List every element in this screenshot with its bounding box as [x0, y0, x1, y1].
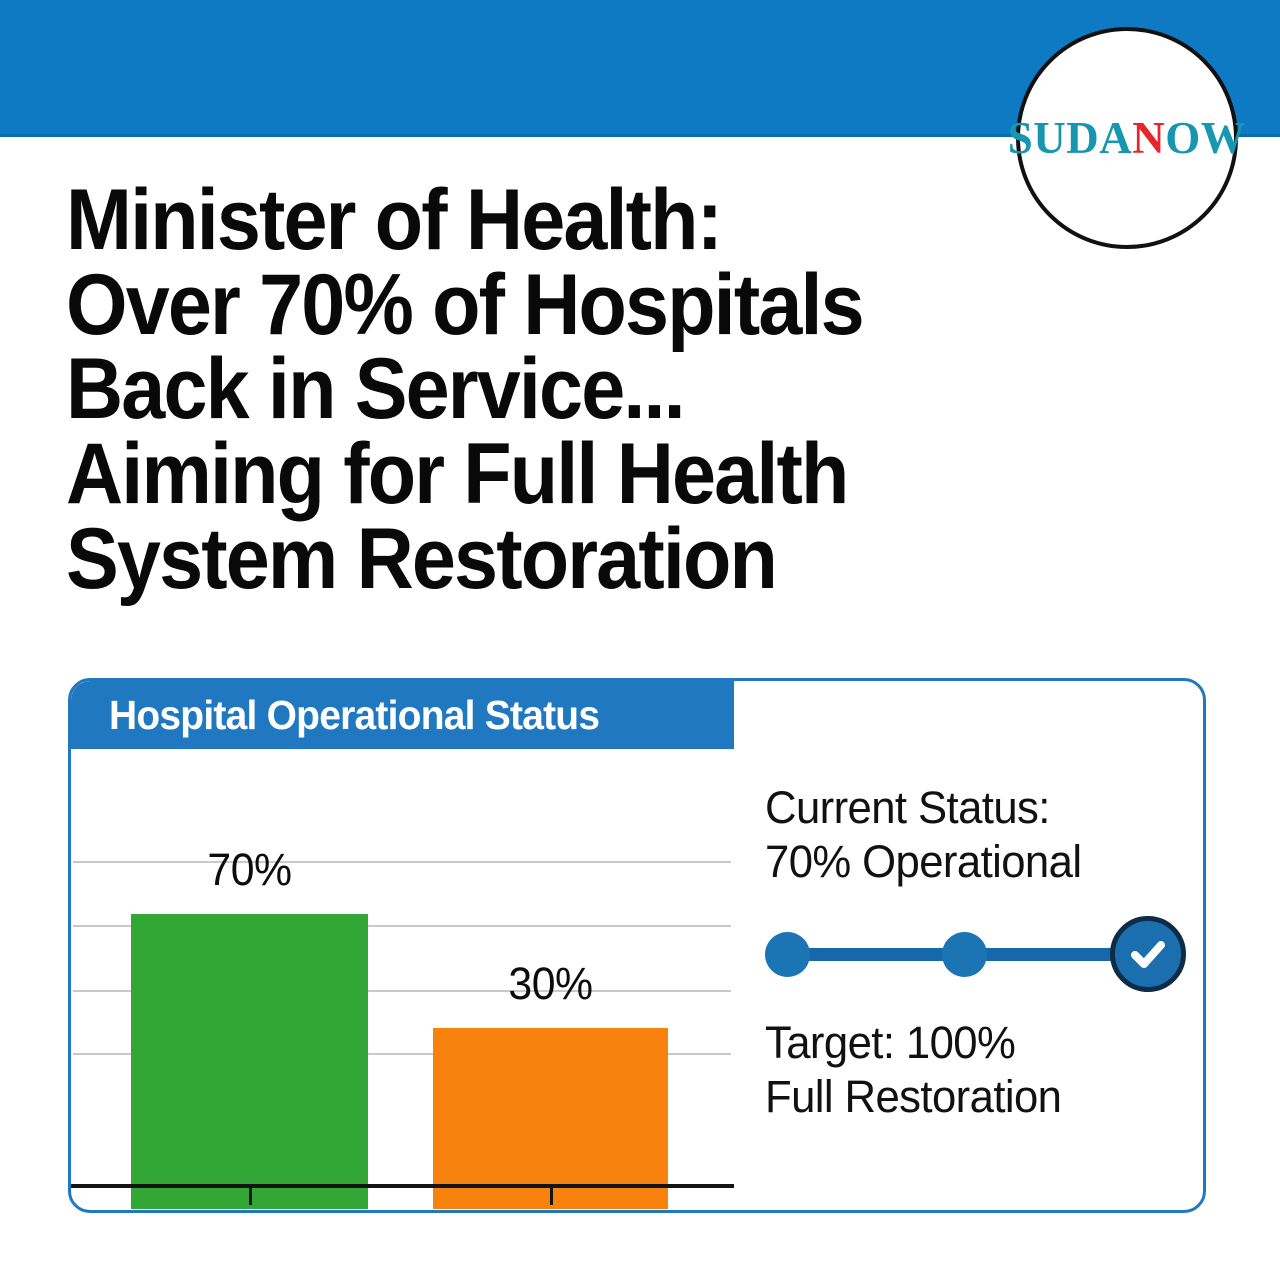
target-line-2: Full Restoration — [765, 1070, 1172, 1124]
headline-line-1: Minister of Health: — [66, 178, 931, 263]
current-status-text: Current Status: 70% Operational — [765, 781, 1172, 890]
bar-in-service — [131, 914, 368, 1209]
headline-line-4: Aiming for Full Health — [66, 432, 931, 517]
status-card: Hospital Operational Status 70% 30% In S… — [68, 678, 1206, 1213]
category-label-under-restoration: Under Restoration — [394, 1205, 708, 1213]
progress-node-complete — [1110, 916, 1186, 992]
logo-text-n: N — [1132, 113, 1165, 163]
logo-text-ow: OW — [1165, 113, 1246, 163]
headline-line-3: Back in Service... — [66, 347, 931, 432]
category-label-in-service: In Service — [115, 1205, 385, 1213]
card-header-title: Hospital Operational Status — [71, 692, 599, 739]
progress-tracker — [765, 916, 1165, 994]
page-headline: Minister of Health: Over 70% of Hospital… — [66, 178, 931, 602]
x-axis-line — [71, 1184, 734, 1188]
headline-line-5: System Restoration — [66, 517, 931, 602]
current-status-line-1: Current Status: — [765, 781, 1172, 835]
headline-line-2: Over 70% of Hospitals — [66, 263, 931, 348]
current-status-line-2: 70% Operational — [765, 835, 1172, 889]
check-icon — [1126, 932, 1170, 976]
progress-node-1 — [765, 932, 810, 977]
axis-tick-1 — [249, 1188, 252, 1205]
target-line-1: Target: 100% — [765, 1016, 1172, 1070]
logo-text-suda: SUDA — [1008, 113, 1133, 163]
bar-under-restoration — [433, 1028, 668, 1209]
sudanow-logo-badge: SUDANOW — [1016, 27, 1238, 249]
infographic-page: SUDANOW Minister of Health: Over 70% of … — [0, 0, 1280, 1280]
progress-node-2 — [942, 932, 987, 977]
status-summary-panel: Current Status: 70% Operational Target: … — [765, 781, 1185, 1125]
bar-chart: 70% 30% In Service Under Restoration — [71, 749, 734, 1213]
bar-value-in-service: 70% — [137, 844, 362, 896]
target-status-text: Target: 100% Full Restoration — [765, 1016, 1172, 1125]
logo-wordmark: SUDANOW — [1008, 116, 1247, 161]
axis-tick-2 — [550, 1188, 553, 1205]
bar-value-under-restoration: 30% — [439, 958, 662, 1010]
card-header: Hospital Operational Status — [71, 681, 734, 749]
